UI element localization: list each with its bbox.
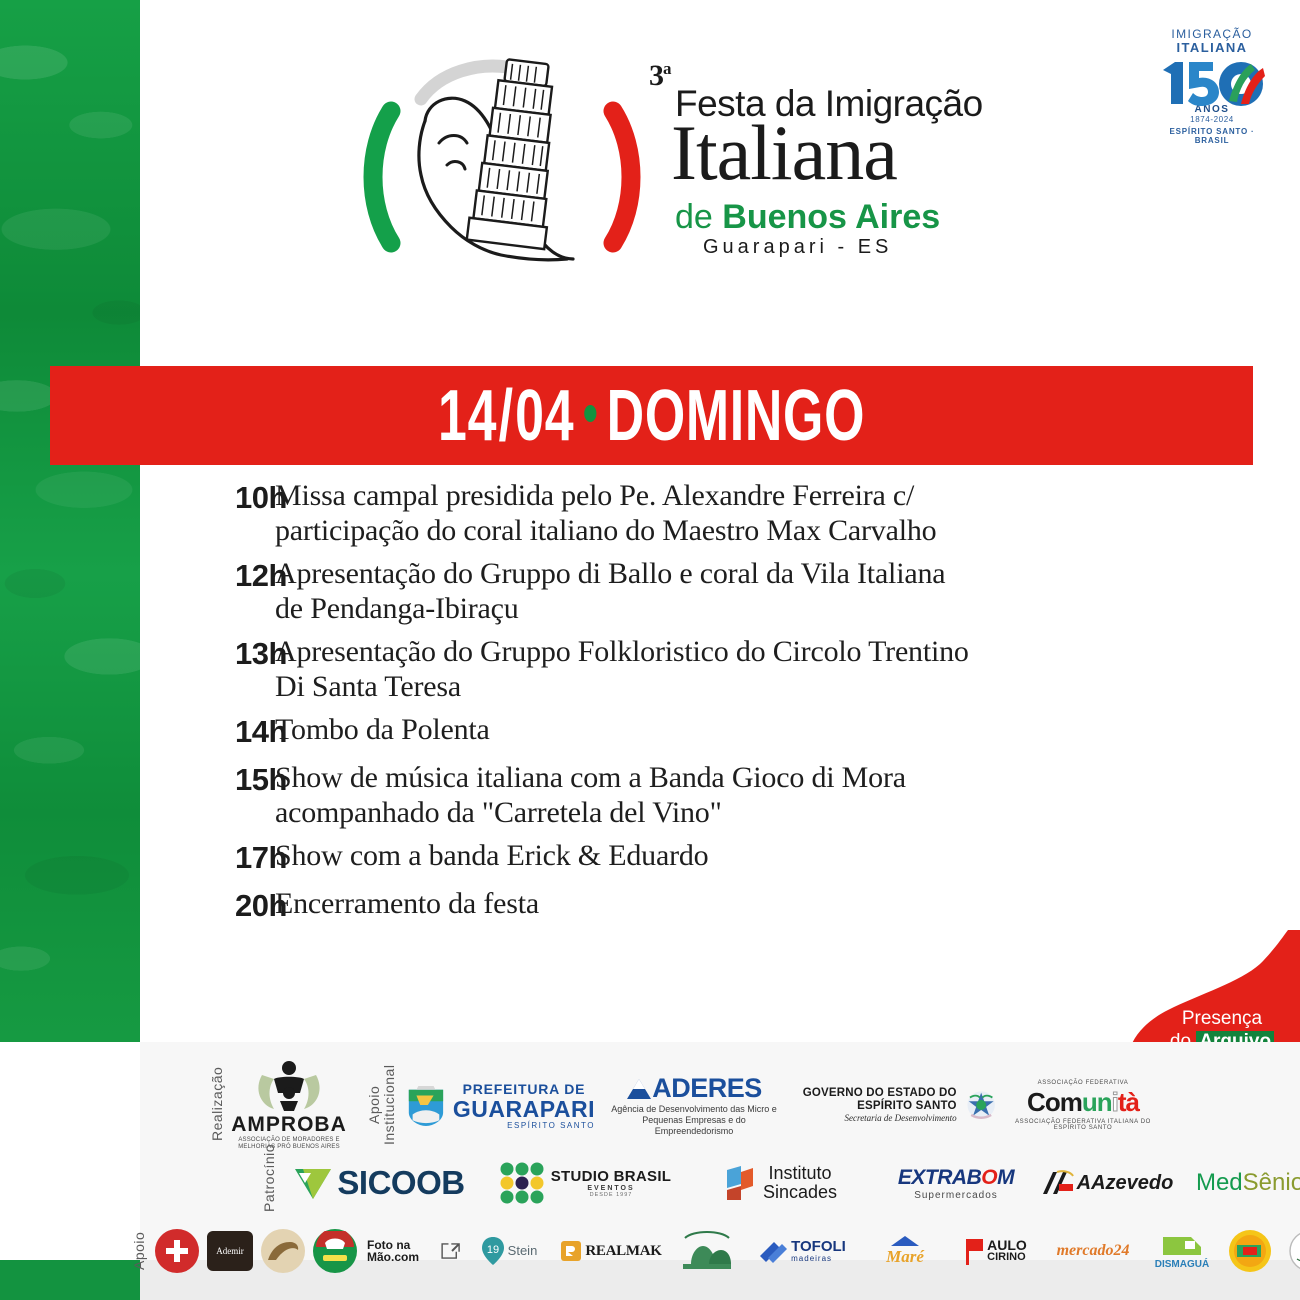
aderes-triangle-icon bbox=[626, 1077, 652, 1101]
ademir-name: Ademir bbox=[216, 1247, 244, 1255]
label-patrocinio: Patrocínio bbox=[262, 1154, 277, 1212]
schedule-desc-line: acompanhado da "Carretela del Vino" bbox=[275, 795, 1300, 830]
poster-root: 3a Festa da Imigração Italiana de Buenos… bbox=[0, 0, 1300, 1300]
badge150-line2: ITALIANA bbox=[1152, 41, 1272, 54]
logo-bar-badge bbox=[313, 1229, 357, 1273]
schedule-row: 12h Apresentação do Gruppo di Ballo e co… bbox=[140, 556, 1300, 626]
date-day: 14 bbox=[438, 376, 497, 456]
schedule-row: 13h Apresentação do Gruppo Folkloristico… bbox=[140, 634, 1300, 704]
schedule-description: Apresentação do Gruppo Folkloristico do … bbox=[275, 634, 1300, 704]
schedule-description: Apresentação do Gruppo di Ballo e coral … bbox=[275, 556, 1300, 626]
logo-medsenior: MedSênior bbox=[1185, 1163, 1300, 1203]
logo-amproba: AMPROBA ASSOCIAÇÃO DE MORADORES E MELHOR… bbox=[235, 1059, 343, 1151]
sponsor-row-apoio: Apoio Ademir Foto na Mão.com bbox=[132, 1222, 1300, 1280]
bar-circle-icon bbox=[315, 1231, 355, 1271]
studio-brasil-sub: EVENTOS bbox=[551, 1185, 672, 1192]
governo-name: GOVERNO DO ESTADO DO ESPÍRITO SANTO bbox=[797, 1087, 957, 1113]
bottom-left-green-block bbox=[0, 1260, 140, 1300]
schedule-hour: 14h bbox=[140, 712, 275, 752]
paulo-cirino-flag-icon bbox=[965, 1237, 985, 1265]
sponsor-row-institutional: Realização AMPROBA ASSOCIAÇÃO DE MORADOR… bbox=[210, 1055, 1153, 1155]
logo-line-italiana: Italiana bbox=[671, 114, 897, 192]
150-numeral-icon bbox=[1157, 56, 1267, 108]
badge150-years: 1874-2024 bbox=[1152, 115, 1272, 124]
logo-artwork bbox=[355, 45, 655, 295]
aazevedo-name: AAzevedo bbox=[1077, 1172, 1174, 1195]
prefeitura-line2: GUARAPARI bbox=[453, 1097, 595, 1121]
label-realizacao: Realização bbox=[210, 1069, 225, 1141]
schedule-list: 10h Missa campal presidida pelo Pe. Alex… bbox=[140, 478, 1300, 934]
schedule-row: 15h Show de música italiana com a Banda … bbox=[140, 760, 1300, 830]
schedule-hour: 12h bbox=[140, 556, 275, 596]
schedule-description: Encerramento da festa bbox=[275, 886, 1300, 921]
dismagua-truck-icon bbox=[1161, 1233, 1203, 1259]
date-weekday: DOMINGO bbox=[607, 376, 865, 456]
logo-studio-brasil: STUDIO BRASIL EVENTOS DESDE 1997 bbox=[495, 1161, 675, 1205]
schedule-description: Missa campal presidida pelo Pe. Alexandr… bbox=[275, 478, 1300, 548]
schedule-desc-line: participação do coral italiano do Maestr… bbox=[275, 513, 1300, 548]
italian-flag-green-arc-icon bbox=[373, 111, 391, 243]
schedule-row: 20h Encerramento da festa bbox=[140, 886, 1300, 926]
schedule-hour: 15h bbox=[140, 760, 275, 800]
date-banner: 14/04DOMINGO bbox=[50, 366, 1253, 465]
schedule-desc-line: Encerramento da festa bbox=[275, 886, 1300, 921]
badge150-number bbox=[1152, 54, 1272, 110]
schedule-desc-line: Show com a banda Erick & Eduardo bbox=[275, 838, 1300, 873]
schedule-desc-line: Apresentação do Gruppo Folkloristico do … bbox=[275, 634, 1300, 669]
logo-edition: 3a bbox=[649, 59, 671, 93]
event-logo: 3a Festa da Imigração Italiana de Buenos… bbox=[355, 45, 955, 305]
extrabom-sub: Supermercados bbox=[914, 1190, 998, 1201]
logo-extrabom: EXTRABOM Supermercados bbox=[881, 1166, 1031, 1201]
logo-instituto-sincades: InstitutoSincades bbox=[695, 1164, 865, 1202]
logo-mercado24: mercado24 bbox=[1045, 1242, 1141, 1260]
svg-text:19: 19 bbox=[487, 1244, 499, 1256]
sponsor-row-patrocinio: Patrocínio SICOOB STUDIO BRASIL EVENTOS … bbox=[262, 1152, 1300, 1214]
logo-sunburst-badge bbox=[1223, 1229, 1277, 1273]
logo-prefeitura-guarapari: PREFEITURA DE GUARAPARI ESPÍRITO SANTO bbox=[405, 1081, 595, 1130]
dismagua-name: DISMAGUÁ bbox=[1155, 1259, 1209, 1270]
logo-realmak: REALMAK bbox=[557, 1240, 665, 1262]
amproba-people-icon bbox=[254, 1059, 324, 1113]
arquivo-line1: Presença bbox=[1152, 1008, 1292, 1030]
sicoob-name: SICOOB bbox=[337, 1164, 464, 1202]
logo-ademir: Ademir bbox=[207, 1231, 253, 1271]
logo-cruz-vermelha bbox=[155, 1229, 199, 1273]
sincades-name: InstitutoSincades bbox=[763, 1164, 837, 1202]
vila-circle-icon: Vila bbox=[1287, 1229, 1300, 1273]
schedule-row: 14h Tombo da Polenta bbox=[140, 712, 1300, 752]
aderes-sub: Agência de Desenvolvimento das Micro e P… bbox=[609, 1104, 779, 1137]
schedule-row: 10h Missa campal presidida pelo Pe. Alex… bbox=[140, 478, 1300, 548]
badge150-state: ESPÍRITO SANTO · BRASIL bbox=[1152, 127, 1272, 145]
italian-flag-red-arc-icon bbox=[613, 111, 631, 243]
eye-icon bbox=[447, 162, 465, 169]
logo-tofoli: TOFOLI madeiras bbox=[747, 1238, 857, 1264]
schedule-description: Tombo da Polenta bbox=[275, 712, 1300, 747]
schedule-hour: 10h bbox=[140, 478, 275, 518]
amproba-sub: ASSOCIAÇÃO DE MORADORES E MELHORIAS PRÓ … bbox=[235, 1137, 343, 1151]
governo-sub: Secretaria de Desenvolvimento bbox=[797, 1113, 957, 1123]
schedule-description: Show com a banda Erick & Eduardo bbox=[275, 838, 1300, 873]
label-apoio: Apoio bbox=[132, 1228, 147, 1274]
prefeitura-sub: ESPÍRITO SANTO bbox=[453, 1121, 595, 1130]
realmak-name: REALMAK bbox=[585, 1243, 661, 1260]
logo-stein: 19 Stein bbox=[467, 1236, 551, 1266]
eyebrow-icon bbox=[439, 136, 467, 144]
amproba-name: AMPROBA bbox=[231, 1113, 347, 1137]
studio-brasil-name: STUDIO BRASIL bbox=[551, 1169, 672, 1185]
schedule-desc-line: Di Santa Teresa bbox=[275, 669, 1300, 704]
logo-aderes: ADERES Agência de Desenvolvimento das Mi… bbox=[609, 1073, 779, 1137]
studio-brasil-sub2: DESDE 1997 bbox=[551, 1192, 672, 1198]
label-apoio-institucional: Apoio Institucional bbox=[367, 1063, 397, 1147]
date-month: 04 bbox=[515, 376, 574, 456]
schedule-hour: 13h bbox=[140, 634, 275, 674]
logo-mare: Maré bbox=[863, 1234, 947, 1268]
medsenior-name: MedSênior bbox=[1196, 1169, 1300, 1197]
schedule-hour: 20h bbox=[140, 886, 275, 926]
studio-brasil-dots-icon bbox=[499, 1161, 545, 1205]
foto-na-mao-name: Foto na Mão.com bbox=[367, 1239, 437, 1263]
stein-pin-icon: 19 bbox=[481, 1236, 505, 1266]
photo-frame-icon bbox=[440, 1238, 461, 1264]
aazevedo-mark-icon bbox=[1041, 1170, 1075, 1196]
sincades-mark-icon bbox=[723, 1164, 757, 1202]
mercado24-name: mercado24 bbox=[1057, 1242, 1130, 1260]
comunita-name: Comunità bbox=[1027, 1087, 1139, 1118]
vila-fratelli-trees-icon bbox=[679, 1230, 735, 1272]
aderes-name: ADERES bbox=[652, 1073, 762, 1104]
leaning-tower-of-pisa-icon bbox=[467, 57, 567, 249]
schedule-desc-line: Apresentação do Gruppo di Ballo e coral … bbox=[275, 556, 1300, 591]
logo-line-city: Guarapari - ES bbox=[703, 236, 892, 259]
date-banner-text: 14/04DOMINGO bbox=[438, 380, 865, 452]
stein-name: Stein bbox=[508, 1245, 538, 1257]
logo-sicoob: SICOOB bbox=[289, 1164, 469, 1202]
tofoli-planks-icon bbox=[758, 1238, 788, 1264]
logo-aazevedo: AAzevedo bbox=[1037, 1170, 1177, 1196]
schedule-desc-line: Show de música italiana com a Banda Gioc… bbox=[275, 760, 1300, 795]
comunita-sub: ASSOCIAÇÃO FEDERATIVA ITALIANA DO ESPÍRI… bbox=[1013, 1119, 1153, 1131]
left-green-stripe bbox=[0, 0, 140, 1042]
espirito-santo-coat-of-arms-icon bbox=[965, 1079, 997, 1131]
logo-governo-es: GOVERNO DO ESTADO DO ESPÍRITO SANTO Secr… bbox=[797, 1079, 997, 1131]
header: 3a Festa da Imigração Italiana de Buenos… bbox=[140, 0, 1300, 366]
date-slash: / bbox=[499, 380, 514, 452]
schedule-description: Show de música italiana com a Banda Gioc… bbox=[275, 760, 1300, 830]
logo-dismagua: DISMAGUÁ bbox=[1147, 1233, 1217, 1270]
sicoob-triangle-icon bbox=[293, 1165, 333, 1201]
logo-line-buenos-aires: de Buenos Aires bbox=[675, 198, 940, 237]
extrabom-name: EXTRABOM bbox=[898, 1166, 1014, 1190]
date-separator-dot bbox=[584, 405, 596, 422]
schedule-row: 17h Show com a banda Erick & Eduardo bbox=[140, 838, 1300, 878]
prefeitura-line1: PREFEITURA DE bbox=[453, 1081, 595, 1097]
logo-vila-fratelli bbox=[671, 1230, 743, 1272]
schedule-desc-line: Tombo da Polenta bbox=[275, 712, 1300, 747]
logo-comunita: ASSOCIAÇÃO FEDERATIVA Comunità ASSOCIAÇÃ… bbox=[1013, 1080, 1153, 1131]
red-cross-icon bbox=[162, 1236, 192, 1266]
coffee-badge-icon bbox=[266, 1240, 300, 1262]
gray-swoosh-icon bbox=[421, 66, 507, 99]
logo-vila: Vila bbox=[1283, 1229, 1300, 1273]
schedule-desc-line: Missa campal presidida pelo Pe. Alexandr… bbox=[275, 478, 1300, 513]
guarapari-coat-of-arms-icon bbox=[405, 1081, 447, 1129]
comunita-arc-top: ASSOCIAÇÃO FEDERATIVA bbox=[1038, 1080, 1129, 1086]
sunburst-badge-icon bbox=[1227, 1229, 1273, 1273]
mare-wordmark-icon: Maré bbox=[875, 1234, 935, 1268]
badge-150-anos: IMIGRAÇÃO ITALIANA ANOS 1874-2024 ESPÍRI… bbox=[1152, 28, 1272, 138]
schedule-hour: 17h bbox=[140, 838, 275, 878]
realmak-mark-icon bbox=[560, 1240, 582, 1262]
svg-text:Maré: Maré bbox=[885, 1247, 925, 1266]
logo-foto-na-mao: Foto na Mão.com bbox=[367, 1238, 461, 1264]
schedule-desc-line: de Pendanga-Ibiraçu bbox=[275, 591, 1300, 626]
logo-casa-beige bbox=[261, 1229, 305, 1273]
logo-paulo-cirino: AULO CIRINO bbox=[953, 1237, 1039, 1265]
